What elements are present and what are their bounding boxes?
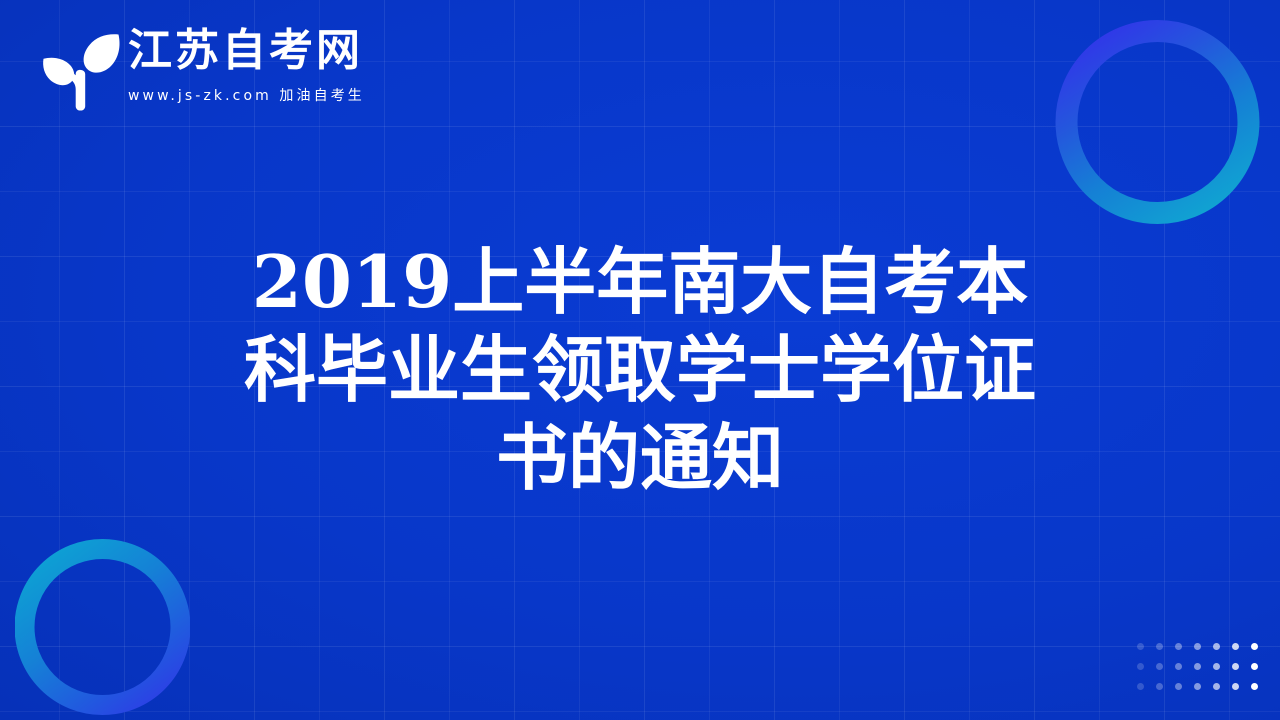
title-line-2: 科毕业生领取学士学位证 [120, 326, 1160, 414]
dot-grid-dot [1156, 643, 1163, 650]
dot-grid-dot [1251, 663, 1258, 670]
dot-grid-dot [1137, 663, 1144, 670]
site-logo: 江苏自考网 www.js-zk.com 加油自考生 [34, 22, 365, 116]
dot-grid-dot [1251, 643, 1258, 650]
dot-grid-dot [1232, 683, 1239, 690]
ring-bottom-left [15, 538, 190, 716]
dot-grid-dot [1137, 683, 1144, 690]
dot-grid-dot [1232, 663, 1239, 670]
brand-name: 江苏自考网 [128, 29, 365, 74]
logo-text-block: 江苏自考网 www.js-zk.com 加油自考生 [128, 22, 365, 105]
dot-grid-dot [1213, 683, 1220, 690]
dot-grid-dot [1137, 643, 1144, 650]
dot-grid-dot [1175, 643, 1182, 650]
dot-grid-dot [1175, 683, 1182, 690]
dot-grid-decoration [1131, 636, 1264, 696]
poster-canvas: 江苏自考网 www.js-zk.com 加油自考生 2019上半年南大自考本 科… [0, 0, 1280, 720]
dot-grid-dot [1194, 643, 1201, 650]
dot-grid-dot [1156, 683, 1163, 690]
dot-grid-dot [1232, 643, 1239, 650]
dot-grid-dot [1251, 683, 1258, 690]
brand-tagline: www.js-zk.com 加油自考生 [128, 85, 365, 105]
dot-grid-dot [1194, 663, 1201, 670]
dot-grid-dot [1175, 663, 1182, 670]
title-line-3: 书的通知 [120, 414, 1160, 502]
ring-top-right [1055, 17, 1260, 227]
dot-grid-dot [1213, 643, 1220, 650]
dot-grid-dot [1156, 663, 1163, 670]
dot-grid-dot [1194, 683, 1201, 690]
title-line-1: 2019上半年南大自考本 [120, 238, 1160, 326]
page-title: 2019上半年南大自考本 科毕业生领取学士学位证 书的通知 [0, 238, 1280, 502]
dot-grid-dot [1213, 663, 1220, 670]
sprout-icon [34, 24, 126, 116]
